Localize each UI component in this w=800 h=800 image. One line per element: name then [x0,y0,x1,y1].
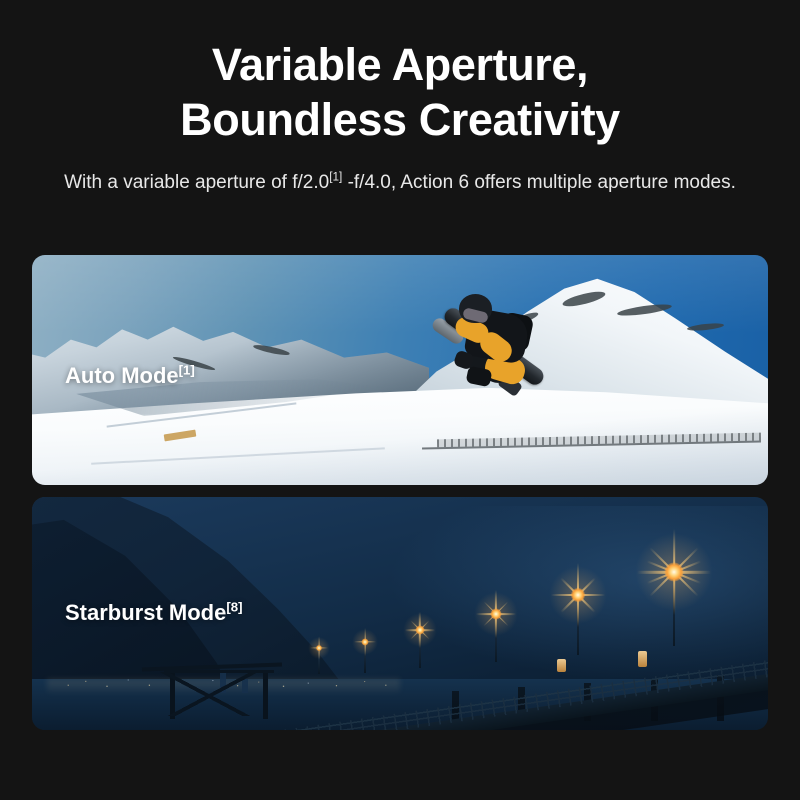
starburst-lamp [352,642,378,672]
lamp-core [361,638,368,645]
card-label-footnote: [8] [226,600,242,615]
lamp-core [316,645,322,651]
card-label-starburst-mode: Starburst Mode[8] [65,600,242,626]
pier-lamp-box [557,659,566,672]
starburst-lamp [550,595,606,655]
card-label-text: Auto Mode [65,363,179,388]
snowboarder-figure [433,294,553,424]
product-feature-page: Variable Aperture, Boundless Creativity … [0,0,800,800]
page-title-line-2: Boundless Creativity [0,93,800,148]
card-label-auto-mode: Auto Mode[1] [65,363,195,389]
card-label-footnote: [1] [179,363,195,378]
starburst-lamp [639,572,709,646]
subtitle-text-part-2: -f/4.0, Action 6 offers multiple apertur… [342,172,736,193]
page-subtitle: With a variable aperture of f/2.0[1] -f/… [0,169,800,197]
starburst-lamp [403,630,437,668]
feature-card-list: Auto Mode[1] [32,255,768,730]
lamp-core [415,626,424,635]
page-header: Variable Aperture, Boundless Creativity … [0,0,800,197]
card-label-text: Starburst Mode [65,600,226,625]
subtitle-footnote-marker: [1] [329,170,342,183]
lamp-core [490,609,501,620]
starburst-lamp [308,648,330,674]
page-title: Variable Aperture, Boundless Creativity [0,38,800,148]
pier-lamp-box [638,651,647,667]
feature-card-starburst-mode[interactable]: Starburst Mode[8] [32,497,768,730]
lamp-core [571,588,585,602]
starburst-lamp [474,614,518,662]
subtitle-text-part-1: With a variable aperture of f/2.0 [64,172,329,193]
pier-truss-cross-brace [150,672,268,716]
lamp-core [665,563,684,582]
feature-card-auto-mode[interactable]: Auto Mode[1] [32,255,768,485]
page-title-line-1: Variable Aperture, [0,38,800,93]
